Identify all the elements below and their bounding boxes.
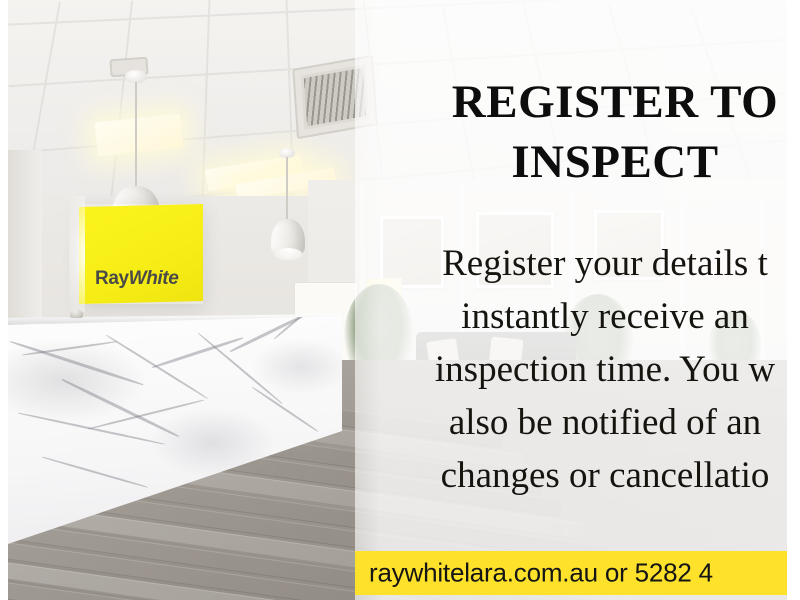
pendant-lamp — [271, 219, 305, 257]
left-margin — [0, 0, 8, 600]
ray-white-sign: RayWhite — [79, 204, 203, 304]
contact-bar: raywhitelara.com.au or 5282 4 — [355, 551, 787, 595]
body-line-5: changes or cancellatio — [355, 450, 787, 503]
reception-bell — [70, 310, 83, 318]
poster-canvas: RayWhite — [0, 0, 800, 600]
body-line-2: instantly receive an — [355, 291, 787, 344]
headline: REGISTER TO INSPECT — [355, 72, 787, 192]
contact-text[interactable]: raywhitelara.com.au or 5282 4 — [369, 558, 713, 589]
headline-line-2: INSPECT — [355, 132, 787, 192]
ray-white-logo-white: White — [129, 268, 179, 289]
lamp-cord — [286, 157, 288, 219]
body-line-3: inspection time. You w — [355, 344, 787, 397]
body-line-1: Register your details t — [355, 238, 787, 291]
headline-line-1: REGISTER TO — [452, 76, 778, 128]
ray-white-logo: RayWhite — [95, 268, 178, 290]
right-margin — [787, 0, 800, 600]
ray-white-logo-ray: Ray — [95, 268, 129, 289]
body-line-4: also be notified of an — [355, 397, 787, 450]
body-copy: Register your details t instantly receiv… — [355, 238, 787, 503]
text-block: REGISTER TO INSPECT Register your detail… — [355, 0, 787, 600]
lamp-cord — [135, 82, 137, 186]
